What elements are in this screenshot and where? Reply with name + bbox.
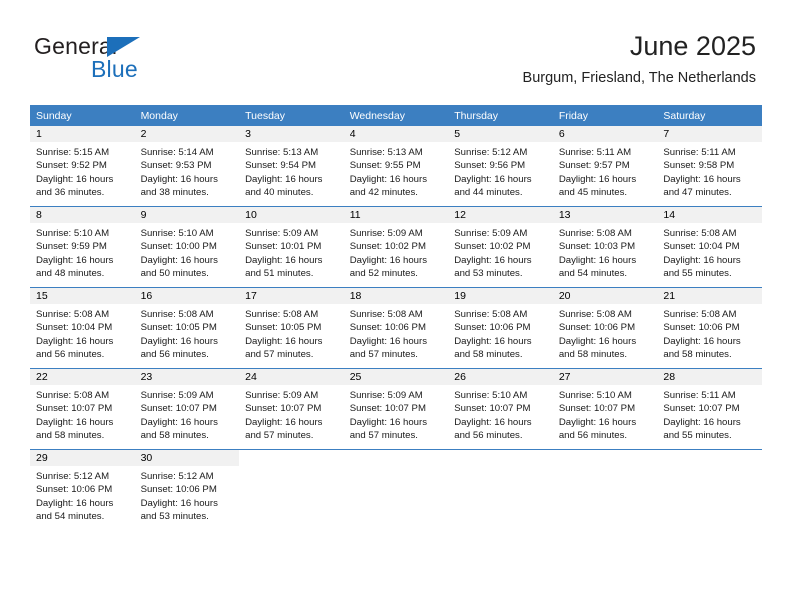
daylight-text-line1: Daylight: 16 hours <box>454 416 549 429</box>
calendar-day-cell[interactable]: 1Sunrise: 5:15 AMSunset: 9:52 PMDaylight… <box>30 126 135 207</box>
day-cell-inner <box>239 450 344 530</box>
day-cell-inner: 13Sunrise: 5:08 AMSunset: 10:03 PMDaylig… <box>553 207 658 287</box>
day-number: 7 <box>657 126 762 142</box>
day-cell-inner: 22Sunrise: 5:08 AMSunset: 10:07 PMDaylig… <box>30 369 135 449</box>
sunrise-text: Sunrise: 5:13 AM <box>245 146 340 159</box>
calendar-day-cell[interactable]: 18Sunrise: 5:08 AMSunset: 10:06 PMDaylig… <box>344 288 449 369</box>
calendar-day-cell[interactable]: 6Sunrise: 5:11 AMSunset: 9:57 PMDaylight… <box>553 126 658 207</box>
day-number: 18 <box>344 288 449 304</box>
day-details: Sunrise: 5:08 AMSunset: 10:03 PMDaylight… <box>553 223 658 287</box>
day-number: 10 <box>239 207 344 223</box>
day-details: Sunrise: 5:12 AMSunset: 10:06 PMDaylight… <box>135 466 240 530</box>
daylight-text-line2: and 53 minutes. <box>454 267 549 280</box>
daylight-text-line1: Daylight: 16 hours <box>454 173 549 186</box>
day-details: Sunrise: 5:10 AMSunset: 10:07 PMDaylight… <box>553 385 658 449</box>
day-cell-inner: 2Sunrise: 5:14 AMSunset: 9:53 PMDaylight… <box>135 126 240 206</box>
column-header-friday: Friday <box>553 105 658 126</box>
sunrise-text: Sunrise: 5:12 AM <box>36 470 131 483</box>
calendar-day-cell[interactable]: 20Sunrise: 5:08 AMSunset: 10:06 PMDaylig… <box>553 288 658 369</box>
day-cell-inner: 17Sunrise: 5:08 AMSunset: 10:05 PMDaylig… <box>239 288 344 368</box>
day-cell-inner: 6Sunrise: 5:11 AMSunset: 9:57 PMDaylight… <box>553 126 658 206</box>
day-number: 20 <box>553 288 658 304</box>
sunset-text: Sunset: 9:55 PM <box>350 159 445 172</box>
sunset-text: Sunset: 10:00 PM <box>141 240 236 253</box>
daylight-text-line1: Daylight: 16 hours <box>350 173 445 186</box>
day-details <box>657 466 762 476</box>
day-cell-inner: 26Sunrise: 5:10 AMSunset: 10:07 PMDaylig… <box>448 369 553 449</box>
sunrise-text: Sunrise: 5:10 AM <box>141 227 236 240</box>
day-details: Sunrise: 5:11 AMSunset: 9:57 PMDaylight:… <box>553 142 658 206</box>
calendar-day-cell[interactable]: 26Sunrise: 5:10 AMSunset: 10:07 PMDaylig… <box>448 369 553 450</box>
day-cell-inner: 5Sunrise: 5:12 AMSunset: 9:56 PMDaylight… <box>448 126 553 206</box>
sunset-text: Sunset: 10:01 PM <box>245 240 340 253</box>
daylight-text-line1: Daylight: 16 hours <box>663 173 758 186</box>
daylight-text-line1: Daylight: 16 hours <box>350 254 445 267</box>
day-cell-inner: 20Sunrise: 5:08 AMSunset: 10:06 PMDaylig… <box>553 288 658 368</box>
sunset-text: Sunset: 10:06 PM <box>36 483 131 496</box>
sunrise-text: Sunrise: 5:13 AM <box>350 146 445 159</box>
calendar-day-cell[interactable]: 2Sunrise: 5:14 AMSunset: 9:53 PMDaylight… <box>135 126 240 207</box>
daylight-text-line2: and 58 minutes. <box>141 429 236 442</box>
sunset-text: Sunset: 10:06 PM <box>559 321 654 334</box>
day-details: Sunrise: 5:08 AMSunset: 10:04 PMDaylight… <box>657 223 762 287</box>
triangle-icon <box>107 37 140 57</box>
calendar-day-cell[interactable]: 22Sunrise: 5:08 AMSunset: 10:07 PMDaylig… <box>30 369 135 450</box>
day-details: Sunrise: 5:13 AMSunset: 9:54 PMDaylight:… <box>239 142 344 206</box>
calendar-day-cell[interactable]: 4Sunrise: 5:13 AMSunset: 9:55 PMDaylight… <box>344 126 449 207</box>
day-cell-inner: 1Sunrise: 5:15 AMSunset: 9:52 PMDaylight… <box>30 126 135 206</box>
daylight-text-line1: Daylight: 16 hours <box>141 335 236 348</box>
day-cell-inner: 9Sunrise: 5:10 AMSunset: 10:00 PMDayligh… <box>135 207 240 287</box>
day-number: 14 <box>657 207 762 223</box>
day-details: Sunrise: 5:08 AMSunset: 10:06 PMDaylight… <box>344 304 449 368</box>
calendar-day-cell[interactable]: 30Sunrise: 5:12 AMSunset: 10:06 PMDaylig… <box>135 450 240 531</box>
sunset-text: Sunset: 9:56 PM <box>454 159 549 172</box>
daylight-text-line2: and 57 minutes. <box>350 348 445 361</box>
page-header: General Blue June 2025 Burgum, Friesland… <box>0 0 792 100</box>
daylight-text-line2: and 36 minutes. <box>36 186 131 199</box>
day-cell-inner: 28Sunrise: 5:11 AMSunset: 10:07 PMDaylig… <box>657 369 762 449</box>
day-details: Sunrise: 5:08 AMSunset: 10:06 PMDaylight… <box>553 304 658 368</box>
sunset-text: Sunset: 10:06 PM <box>350 321 445 334</box>
sunset-text: Sunset: 10:07 PM <box>36 402 131 415</box>
daylight-text-line2: and 58 minutes. <box>36 429 131 442</box>
calendar-week-row: 22Sunrise: 5:08 AMSunset: 10:07 PMDaylig… <box>30 369 762 450</box>
daylight-text-line1: Daylight: 16 hours <box>559 173 654 186</box>
day-number: 30 <box>135 450 240 466</box>
calendar-day-cell[interactable]: 12Sunrise: 5:09 AMSunset: 10:02 PMDaylig… <box>448 207 553 288</box>
daylight-text-line1: Daylight: 16 hours <box>454 335 549 348</box>
sunset-text: Sunset: 10:07 PM <box>141 402 236 415</box>
daylight-text-line1: Daylight: 16 hours <box>36 173 131 186</box>
day-details: Sunrise: 5:08 AMSunset: 10:06 PMDaylight… <box>448 304 553 368</box>
daylight-text-line1: Daylight: 16 hours <box>245 335 340 348</box>
day-number: 4 <box>344 126 449 142</box>
sunrise-text: Sunrise: 5:08 AM <box>36 389 131 402</box>
daylight-text-line2: and 42 minutes. <box>350 186 445 199</box>
daylight-text-line2: and 45 minutes. <box>559 186 654 199</box>
title-block: June 2025 Burgum, Friesland, The Netherl… <box>523 30 756 87</box>
calendar-empty-cell <box>657 450 762 531</box>
daylight-text-line2: and 51 minutes. <box>245 267 340 280</box>
day-cell-inner: 25Sunrise: 5:09 AMSunset: 10:07 PMDaylig… <box>344 369 449 449</box>
day-number: 25 <box>344 369 449 385</box>
column-header-tuesday: Tuesday <box>239 105 344 126</box>
day-cell-inner: 24Sunrise: 5:09 AMSunset: 10:07 PMDaylig… <box>239 369 344 449</box>
daylight-text-line1: Daylight: 16 hours <box>350 416 445 429</box>
daylight-text-line1: Daylight: 16 hours <box>245 254 340 267</box>
calendar-day-cell[interactable]: 5Sunrise: 5:12 AMSunset: 9:56 PMDaylight… <box>448 126 553 207</box>
day-cell-inner: 8Sunrise: 5:10 AMSunset: 9:59 PMDaylight… <box>30 207 135 287</box>
sunrise-text: Sunrise: 5:09 AM <box>454 227 549 240</box>
sunrise-text: Sunrise: 5:08 AM <box>454 308 549 321</box>
day-details: Sunrise: 5:10 AMSunset: 10:07 PMDaylight… <box>448 385 553 449</box>
daylight-text-line2: and 56 minutes. <box>36 348 131 361</box>
column-header-monday: Monday <box>135 105 240 126</box>
day-number <box>657 450 762 466</box>
day-number: 21 <box>657 288 762 304</box>
daylight-text-line2: and 50 minutes. <box>141 267 236 280</box>
daylight-text-line1: Daylight: 16 hours <box>141 497 236 510</box>
calendar-day-cell[interactable]: 23Sunrise: 5:09 AMSunset: 10:07 PMDaylig… <box>135 369 240 450</box>
sunrise-text: Sunrise: 5:12 AM <box>141 470 236 483</box>
day-number: 9 <box>135 207 240 223</box>
sunset-text: Sunset: 10:03 PM <box>559 240 654 253</box>
daylight-text-line2: and 57 minutes. <box>245 429 340 442</box>
sunrise-text: Sunrise: 5:08 AM <box>350 308 445 321</box>
daylight-text-line2: and 47 minutes. <box>663 186 758 199</box>
day-number <box>239 450 344 466</box>
sunrise-text: Sunrise: 5:09 AM <box>141 389 236 402</box>
day-details: Sunrise: 5:09 AMSunset: 10:02 PMDaylight… <box>448 223 553 287</box>
day-number: 6 <box>553 126 658 142</box>
calendar-week-row: 8Sunrise: 5:10 AMSunset: 9:59 PMDaylight… <box>30 207 762 288</box>
day-cell-inner: 30Sunrise: 5:12 AMSunset: 10:06 PMDaylig… <box>135 450 240 530</box>
sunrise-sunset-calendar: Sunday Monday Tuesday Wednesday Thursday… <box>30 105 762 530</box>
day-cell-inner: 29Sunrise: 5:12 AMSunset: 10:06 PMDaylig… <box>30 450 135 530</box>
general-blue-logo[interactable]: General Blue <box>34 33 234 83</box>
calendar-body: 1Sunrise: 5:15 AMSunset: 9:52 PMDaylight… <box>30 126 762 530</box>
daylight-text-line1: Daylight: 16 hours <box>141 416 236 429</box>
calendar-day-cell[interactable]: 10Sunrise: 5:09 AMSunset: 10:01 PMDaylig… <box>239 207 344 288</box>
day-number: 3 <box>239 126 344 142</box>
day-details: Sunrise: 5:09 AMSunset: 10:07 PMDaylight… <box>344 385 449 449</box>
sunrise-text: Sunrise: 5:09 AM <box>350 389 445 402</box>
day-number: 5 <box>448 126 553 142</box>
daylight-text-line2: and 55 minutes. <box>663 429 758 442</box>
daylight-text-line1: Daylight: 16 hours <box>141 173 236 186</box>
sunset-text: Sunset: 10:07 PM <box>663 402 758 415</box>
calendar-page: General Blue June 2025 Burgum, Friesland… <box>0 0 792 612</box>
daylight-text-line2: and 38 minutes. <box>141 186 236 199</box>
daylight-text-line1: Daylight: 16 hours <box>663 254 758 267</box>
day-number: 28 <box>657 369 762 385</box>
calendar-day-cell[interactable]: 11Sunrise: 5:09 AMSunset: 10:02 PMDaylig… <box>344 207 449 288</box>
daylight-text-line1: Daylight: 16 hours <box>663 416 758 429</box>
daylight-text-line1: Daylight: 16 hours <box>245 416 340 429</box>
calendar-empty-cell <box>239 450 344 531</box>
day-number: 13 <box>553 207 658 223</box>
day-details: Sunrise: 5:08 AMSunset: 10:07 PMDaylight… <box>30 385 135 449</box>
column-header-saturday: Saturday <box>657 105 762 126</box>
calendar-day-cell[interactable]: 9Sunrise: 5:10 AMSunset: 10:00 PMDayligh… <box>135 207 240 288</box>
daylight-text-line2: and 57 minutes. <box>245 348 340 361</box>
daylight-text-line1: Daylight: 16 hours <box>36 497 131 510</box>
calendar-day-cell[interactable]: 13Sunrise: 5:08 AMSunset: 10:03 PMDaylig… <box>553 207 658 288</box>
sunrise-text: Sunrise: 5:08 AM <box>663 308 758 321</box>
daylight-text-line2: and 56 minutes. <box>559 429 654 442</box>
daylight-text-line2: and 52 minutes. <box>350 267 445 280</box>
day-details: Sunrise: 5:10 AMSunset: 10:00 PMDaylight… <box>135 223 240 287</box>
daylight-text-line1: Daylight: 16 hours <box>559 416 654 429</box>
daylight-text-line2: and 44 minutes. <box>454 186 549 199</box>
day-details: Sunrise: 5:09 AMSunset: 10:02 PMDaylight… <box>344 223 449 287</box>
daylight-text-line1: Daylight: 16 hours <box>141 254 236 267</box>
sunrise-text: Sunrise: 5:09 AM <box>245 227 340 240</box>
calendar-empty-cell <box>344 450 449 531</box>
day-number: 12 <box>448 207 553 223</box>
calendar-day-cell[interactable]: 24Sunrise: 5:09 AMSunset: 10:07 PMDaylig… <box>239 369 344 450</box>
day-cell-inner: 15Sunrise: 5:08 AMSunset: 10:04 PMDaylig… <box>30 288 135 368</box>
day-cell-inner: 27Sunrise: 5:10 AMSunset: 10:07 PMDaylig… <box>553 369 658 449</box>
calendar-week-row: 29Sunrise: 5:12 AMSunset: 10:06 PMDaylig… <box>30 450 762 531</box>
daylight-text-line2: and 40 minutes. <box>245 186 340 199</box>
calendar-day-cell[interactable]: 25Sunrise: 5:09 AMSunset: 10:07 PMDaylig… <box>344 369 449 450</box>
day-details <box>448 466 553 476</box>
day-cell-inner: 7Sunrise: 5:11 AMSunset: 9:58 PMDaylight… <box>657 126 762 206</box>
sunset-text: Sunset: 10:04 PM <box>663 240 758 253</box>
daylight-text-line1: Daylight: 16 hours <box>36 254 131 267</box>
day-details: Sunrise: 5:12 AMSunset: 9:56 PMDaylight:… <box>448 142 553 206</box>
day-cell-inner: 14Sunrise: 5:08 AMSunset: 10:04 PMDaylig… <box>657 207 762 287</box>
sunrise-text: Sunrise: 5:08 AM <box>141 308 236 321</box>
daylight-text-line2: and 57 minutes. <box>350 429 445 442</box>
daylight-text-line2: and 58 minutes. <box>454 348 549 361</box>
day-number: 17 <box>239 288 344 304</box>
daylight-text-line2: and 54 minutes. <box>36 510 131 523</box>
day-details: Sunrise: 5:08 AMSunset: 10:06 PMDaylight… <box>657 304 762 368</box>
sunrise-text: Sunrise: 5:12 AM <box>454 146 549 159</box>
day-cell-inner: 18Sunrise: 5:08 AMSunset: 10:06 PMDaylig… <box>344 288 449 368</box>
daylight-text-line1: Daylight: 16 hours <box>559 254 654 267</box>
daylight-text-line1: Daylight: 16 hours <box>454 254 549 267</box>
daylight-text-line2: and 56 minutes. <box>141 348 236 361</box>
daylight-text-line2: and 58 minutes. <box>663 348 758 361</box>
sunset-text: Sunset: 10:02 PM <box>350 240 445 253</box>
sunrise-text: Sunrise: 5:14 AM <box>141 146 236 159</box>
day-cell-inner: 19Sunrise: 5:08 AMSunset: 10:06 PMDaylig… <box>448 288 553 368</box>
daylight-text-line1: Daylight: 16 hours <box>663 335 758 348</box>
day-cell-inner: 10Sunrise: 5:09 AMSunset: 10:01 PMDaylig… <box>239 207 344 287</box>
daylight-text-line2: and 58 minutes. <box>559 348 654 361</box>
day-cell-inner <box>657 450 762 530</box>
sunset-text: Sunset: 9:57 PM <box>559 159 654 172</box>
day-cell-inner <box>344 450 449 530</box>
day-details: Sunrise: 5:09 AMSunset: 10:07 PMDaylight… <box>135 385 240 449</box>
sunrise-text: Sunrise: 5:08 AM <box>245 308 340 321</box>
day-details: Sunrise: 5:08 AMSunset: 10:05 PMDaylight… <box>239 304 344 368</box>
day-details: Sunrise: 5:09 AMSunset: 10:07 PMDaylight… <box>239 385 344 449</box>
sunrise-text: Sunrise: 5:11 AM <box>663 146 758 159</box>
day-number: 2 <box>135 126 240 142</box>
day-cell-inner: 21Sunrise: 5:08 AMSunset: 10:06 PMDaylig… <box>657 288 762 368</box>
day-number: 8 <box>30 207 135 223</box>
logo-text-blue: Blue <box>91 56 138 83</box>
sunset-text: Sunset: 10:07 PM <box>559 402 654 415</box>
daylight-text-line2: and 56 minutes. <box>454 429 549 442</box>
column-header-wednesday: Wednesday <box>344 105 449 126</box>
day-cell-inner: 23Sunrise: 5:09 AMSunset: 10:07 PMDaylig… <box>135 369 240 449</box>
calendar-day-cell[interactable]: 15Sunrise: 5:08 AMSunset: 10:04 PMDaylig… <box>30 288 135 369</box>
day-cell-inner: 4Sunrise: 5:13 AMSunset: 9:55 PMDaylight… <box>344 126 449 206</box>
calendar-week-row: 1Sunrise: 5:15 AMSunset: 9:52 PMDaylight… <box>30 126 762 207</box>
daylight-text-line1: Daylight: 16 hours <box>350 335 445 348</box>
sunset-text: Sunset: 9:52 PM <box>36 159 131 172</box>
sunrise-text: Sunrise: 5:10 AM <box>559 389 654 402</box>
calendar-day-cell[interactable]: 27Sunrise: 5:10 AMSunset: 10:07 PMDaylig… <box>553 369 658 450</box>
day-details <box>553 466 658 476</box>
day-details: Sunrise: 5:14 AMSunset: 9:53 PMDaylight:… <box>135 142 240 206</box>
day-cell-inner: 3Sunrise: 5:13 AMSunset: 9:54 PMDaylight… <box>239 126 344 206</box>
day-number <box>344 450 449 466</box>
day-details: Sunrise: 5:13 AMSunset: 9:55 PMDaylight:… <box>344 142 449 206</box>
calendar-day-cell[interactable]: 8Sunrise: 5:10 AMSunset: 9:59 PMDaylight… <box>30 207 135 288</box>
day-details: Sunrise: 5:08 AMSunset: 10:05 PMDaylight… <box>135 304 240 368</box>
day-cell-inner: 12Sunrise: 5:09 AMSunset: 10:02 PMDaylig… <box>448 207 553 287</box>
calendar-day-cell[interactable]: 16Sunrise: 5:08 AMSunset: 10:05 PMDaylig… <box>135 288 240 369</box>
calendar-day-cell[interactable]: 17Sunrise: 5:08 AMSunset: 10:05 PMDaylig… <box>239 288 344 369</box>
sunset-text: Sunset: 10:06 PM <box>454 321 549 334</box>
day-details: Sunrise: 5:11 AMSunset: 9:58 PMDaylight:… <box>657 142 762 206</box>
sunset-text: Sunset: 10:07 PM <box>245 402 340 415</box>
day-cell-inner: 16Sunrise: 5:08 AMSunset: 10:05 PMDaylig… <box>135 288 240 368</box>
daylight-text-line1: Daylight: 16 hours <box>36 416 131 429</box>
day-details: Sunrise: 5:12 AMSunset: 10:06 PMDaylight… <box>30 466 135 530</box>
day-number <box>448 450 553 466</box>
day-details: Sunrise: 5:09 AMSunset: 10:01 PMDaylight… <box>239 223 344 287</box>
sunrise-text: Sunrise: 5:09 AM <box>245 389 340 402</box>
sunset-text: Sunset: 10:06 PM <box>141 483 236 496</box>
day-number: 1 <box>30 126 135 142</box>
day-details: Sunrise: 5:08 AMSunset: 10:04 PMDaylight… <box>30 304 135 368</box>
calendar-day-cell[interactable]: 19Sunrise: 5:08 AMSunset: 10:06 PMDaylig… <box>448 288 553 369</box>
sunrise-text: Sunrise: 5:08 AM <box>559 227 654 240</box>
day-number: 16 <box>135 288 240 304</box>
day-cell-inner <box>553 450 658 530</box>
daylight-text-line1: Daylight: 16 hours <box>245 173 340 186</box>
day-number: 15 <box>30 288 135 304</box>
calendar-day-cell[interactable]: 7Sunrise: 5:11 AMSunset: 9:58 PMDaylight… <box>657 126 762 207</box>
day-number: 23 <box>135 369 240 385</box>
day-number: 27 <box>553 369 658 385</box>
sunset-text: Sunset: 9:59 PM <box>36 240 131 253</box>
daylight-text-line1: Daylight: 16 hours <box>559 335 654 348</box>
day-number <box>553 450 658 466</box>
sunset-text: Sunset: 10:06 PM <box>663 321 758 334</box>
daylight-text-line2: and 55 minutes. <box>663 267 758 280</box>
sunset-text: Sunset: 10:05 PM <box>141 321 236 334</box>
sunset-text: Sunset: 9:58 PM <box>663 159 758 172</box>
calendar-day-cell[interactable]: 21Sunrise: 5:08 AMSunset: 10:06 PMDaylig… <box>657 288 762 369</box>
sunset-text: Sunset: 10:07 PM <box>454 402 549 415</box>
sunset-text: Sunset: 10:07 PM <box>350 402 445 415</box>
page-subtitle: Burgum, Friesland, The Netherlands <box>523 69 756 87</box>
calendar-day-cell[interactable]: 29Sunrise: 5:12 AMSunset: 10:06 PMDaylig… <box>30 450 135 531</box>
sunset-text: Sunset: 10:04 PM <box>36 321 131 334</box>
calendar-week-row: 15Sunrise: 5:08 AMSunset: 10:04 PMDaylig… <box>30 288 762 369</box>
day-number: 19 <box>448 288 553 304</box>
sunrise-text: Sunrise: 5:09 AM <box>350 227 445 240</box>
sunset-text: Sunset: 9:54 PM <box>245 159 340 172</box>
sunrise-text: Sunrise: 5:10 AM <box>454 389 549 402</box>
day-details <box>239 466 344 476</box>
day-number: 29 <box>30 450 135 466</box>
day-details: Sunrise: 5:11 AMSunset: 10:07 PMDaylight… <box>657 385 762 449</box>
sunset-text: Sunset: 10:05 PM <box>245 321 340 334</box>
sunrise-text: Sunrise: 5:10 AM <box>36 227 131 240</box>
day-number: 26 <box>448 369 553 385</box>
sunrise-text: Sunrise: 5:08 AM <box>36 308 131 321</box>
calendar-day-cell[interactable]: 3Sunrise: 5:13 AMSunset: 9:54 PMDaylight… <box>239 126 344 207</box>
daylight-text-line1: Daylight: 16 hours <box>36 335 131 348</box>
sunrise-text: Sunrise: 5:11 AM <box>559 146 654 159</box>
sunset-text: Sunset: 9:53 PM <box>141 159 236 172</box>
day-number: 11 <box>344 207 449 223</box>
daylight-text-line2: and 53 minutes. <box>141 510 236 523</box>
sunrise-text: Sunrise: 5:08 AM <box>559 308 654 321</box>
day-details <box>344 466 449 476</box>
calendar-day-cell[interactable]: 14Sunrise: 5:08 AMSunset: 10:04 PMDaylig… <box>657 207 762 288</box>
day-cell-inner <box>448 450 553 530</box>
daylight-text-line2: and 54 minutes. <box>559 267 654 280</box>
calendar-empty-cell <box>553 450 658 531</box>
day-details: Sunrise: 5:15 AMSunset: 9:52 PMDaylight:… <box>30 142 135 206</box>
daylight-text-line2: and 48 minutes. <box>36 267 131 280</box>
day-details: Sunrise: 5:10 AMSunset: 9:59 PMDaylight:… <box>30 223 135 287</box>
calendar-empty-cell <box>448 450 553 531</box>
sunrise-text: Sunrise: 5:08 AM <box>663 227 758 240</box>
calendar-day-cell[interactable]: 28Sunrise: 5:11 AMSunset: 10:07 PMDaylig… <box>657 369 762 450</box>
day-cell-inner: 11Sunrise: 5:09 AMSunset: 10:02 PMDaylig… <box>344 207 449 287</box>
column-header-sunday: Sunday <box>30 105 135 126</box>
day-number: 22 <box>30 369 135 385</box>
sunrise-text: Sunrise: 5:15 AM <box>36 146 131 159</box>
sunrise-text: Sunrise: 5:11 AM <box>663 389 758 402</box>
column-header-thursday: Thursday <box>448 105 553 126</box>
sunset-text: Sunset: 10:02 PM <box>454 240 549 253</box>
day-number: 24 <box>239 369 344 385</box>
page-title: June 2025 <box>523 30 756 62</box>
calendar-header-row: Sunday Monday Tuesday Wednesday Thursday… <box>30 105 762 126</box>
